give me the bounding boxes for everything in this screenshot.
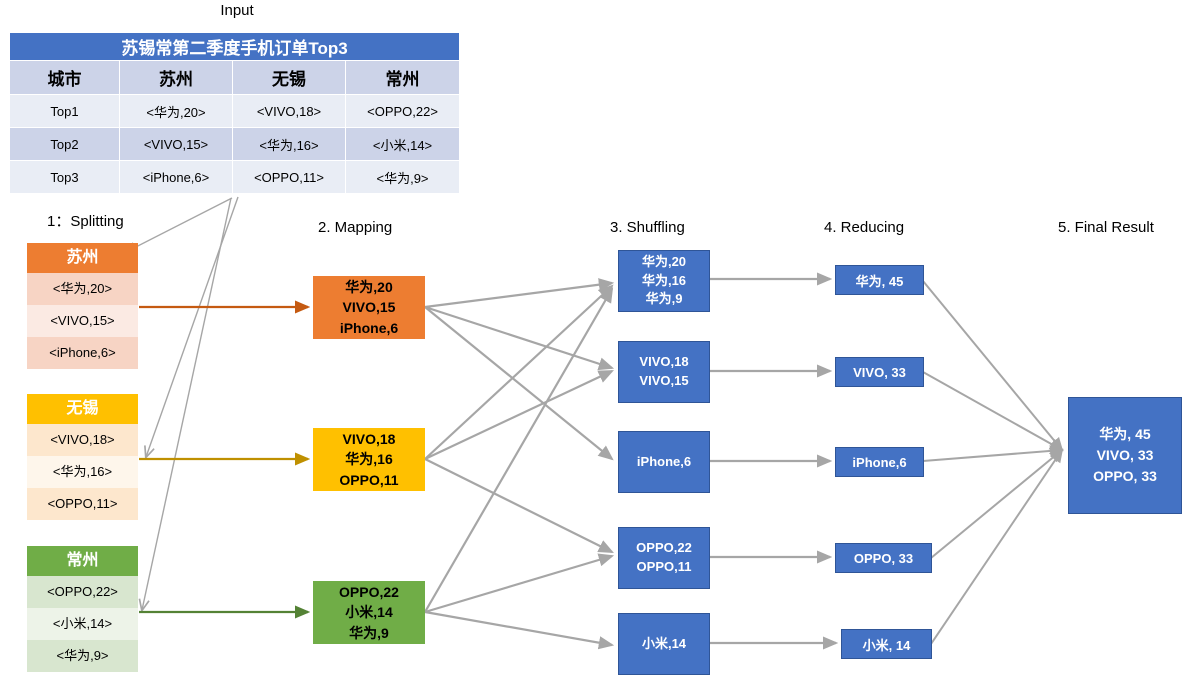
arrows-mapping-to-shuffling — [425, 283, 612, 645]
table-cell: Top2 — [10, 128, 120, 161]
mapping-line: VIVO,18 — [343, 429, 396, 449]
split-item: <小米,14> — [27, 608, 138, 640]
table-cell: <华为,16> — [233, 128, 346, 161]
split-item: <iPhone,6> — [27, 337, 138, 369]
stage-title-final: 5. Final Result — [1058, 219, 1154, 236]
shuffling-line: VIVO,15 — [639, 372, 688, 391]
mapping-line: OPPO,22 — [339, 582, 399, 602]
table-title-row: 苏锡常第二季度手机订单Top3 — [10, 33, 460, 61]
table-title: 苏锡常第二季度手机订单Top3 — [10, 33, 460, 61]
mapping-line: OPPO,11 — [339, 470, 398, 490]
table-header-cell-2: 无锡 — [233, 61, 346, 95]
table-cell: <OPPO,11> — [233, 161, 346, 194]
reducing-box-iphone: iPhone,6 — [835, 447, 924, 477]
table-cell: <VIVO,18> — [233, 95, 346, 128]
mapping-line: 华为,20 — [345, 277, 392, 297]
split-group-header: 无锡 — [27, 394, 138, 424]
mapping-line: iPhone,6 — [340, 318, 398, 338]
shuffling-line: OPPO,22 — [636, 539, 692, 558]
mapping-box-changzhou: OPPO,22 小米,14 华为,9 — [313, 581, 425, 644]
shuffling-line: 华为,16 — [642, 272, 686, 291]
final-line: 华为, 45 — [1099, 424, 1150, 445]
shuffling-line: iPhone,6 — [637, 453, 691, 472]
table-cell: <OPPO,22> — [346, 95, 460, 128]
split-group-header: 常州 — [27, 546, 138, 576]
split-group-suzhou: 苏州 <华为,20> <VIVO,15> <iPhone,6> — [27, 243, 138, 369]
split-group-changzhou: 常州 <OPPO,22> <小米,14> <华为,9> — [27, 546, 138, 672]
shuffling-box-vivo: VIVO,18 VIVO,15 — [618, 341, 710, 403]
split-item: <OPPO,11> — [27, 488, 138, 520]
reducing-box-xiaomi: 小米, 14 — [841, 629, 932, 659]
split-group-wuxi: 无锡 <VIVO,18> <华为,16> <OPPO,11> — [27, 394, 138, 520]
split-item: <华为,9> — [27, 640, 138, 672]
table-cell: <VIVO,15> — [120, 128, 233, 161]
table-cell: <华为,20> — [120, 95, 233, 128]
mapping-line: 华为,16 — [345, 449, 392, 469]
split-item: <VIVO,15> — [27, 305, 138, 337]
split-group-header: 苏州 — [27, 243, 138, 273]
table-header-cell-3: 常州 — [346, 61, 460, 95]
table-cell: <华为,9> — [346, 161, 460, 194]
table-header-cell-1: 苏州 — [120, 61, 233, 95]
stage-title-shuffling: 3. Shuffling — [610, 219, 685, 236]
shuffling-line: OPPO,11 — [637, 558, 692, 577]
reducing-box-vivo: VIVO, 33 — [835, 357, 924, 387]
table-header-row: 城市 苏州 无锡 常州 — [10, 61, 460, 95]
split-item: <VIVO,18> — [27, 424, 138, 456]
shuffling-box-xiaomi: 小米,14 — [618, 613, 710, 675]
stage-title-mapping: 2. Mapping — [318, 219, 392, 236]
table-row: Top2 <VIVO,15> <华为,16> <小米,14> — [10, 128, 460, 161]
table-cell: Top3 — [10, 161, 120, 194]
table-cell: Top1 — [10, 95, 120, 128]
input-table: 苏锡常第二季度手机订单Top3 城市 苏州 无锡 常州 Top1 <华为,20>… — [9, 32, 460, 194]
input-label: Input — [197, 2, 277, 19]
shuffling-line: 小米,14 — [642, 635, 686, 654]
final-line: OPPO, 33 — [1093, 466, 1157, 487]
table-row: Top1 <华为,20> <VIVO,18> <OPPO,22> — [10, 95, 460, 128]
table-cell: <iPhone,6> — [120, 161, 233, 194]
mapping-box-suzhou: 华为,20 VIVO,15 iPhone,6 — [313, 276, 425, 339]
diagram-canvas: Input 苏锡常第二季度手机订单Top3 城市 苏州 无锡 常州 Top1 <… — [0, 0, 1195, 686]
mapping-line: 华为,9 — [349, 623, 389, 643]
split-item: <华为,20> — [27, 273, 138, 305]
table-header-cell-0: 城市 — [10, 61, 120, 95]
shuffling-line: 华为,9 — [646, 290, 683, 309]
reducing-box-oppo: OPPO, 33 — [835, 543, 932, 573]
shuffling-box-huawei: 华为,20 华为,16 华为,9 — [618, 250, 710, 312]
shuffling-line: 华为,20 — [642, 253, 686, 272]
mapping-line: 小米,14 — [345, 602, 392, 622]
shuffling-line: VIVO,18 — [639, 353, 688, 372]
reducing-box-huawei: 华为, 45 — [835, 265, 924, 295]
shuffling-box-iphone: iPhone,6 — [618, 431, 710, 493]
arrows-shuffling-to-reducing — [708, 279, 836, 643]
mapping-box-wuxi: VIVO,18 华为,16 OPPO,11 — [313, 428, 425, 491]
table-cell: <小米,14> — [346, 128, 460, 161]
final-result-box: 华为, 45 VIVO, 33 OPPO, 33 — [1068, 397, 1182, 514]
split-item: <华为,16> — [27, 456, 138, 488]
arrows-reducing-to-final — [923, 281, 1062, 644]
mapping-line: VIVO,15 — [343, 297, 396, 317]
arrows-input-to-splitting — [126, 197, 238, 610]
final-line: VIVO, 33 — [1097, 445, 1154, 466]
split-item: <OPPO,22> — [27, 576, 138, 608]
table-row: Top3 <iPhone,6> <OPPO,11> <华为,9> — [10, 161, 460, 194]
stage-title-splitting: 1：Splitting — [47, 210, 124, 231]
shuffling-box-oppo: OPPO,22 OPPO,11 — [618, 527, 710, 589]
stage-title-reducing: 4. Reducing — [824, 219, 904, 236]
